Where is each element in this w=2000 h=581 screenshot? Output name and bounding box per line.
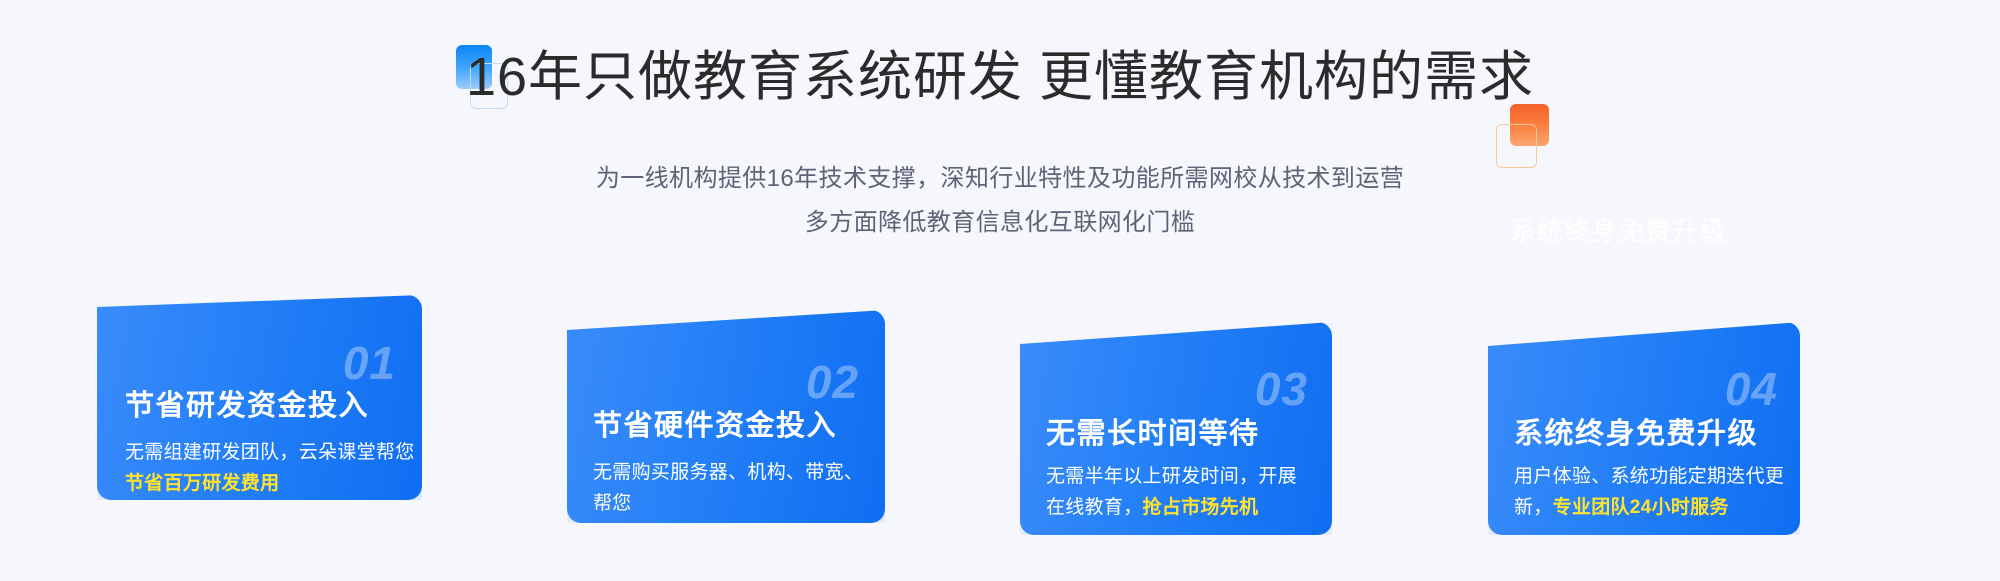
card-number: 04: [1725, 366, 1778, 412]
card-description: 用户体验、系统功能定期迭代更新，专业团队24小时服务: [1514, 462, 1792, 524]
card-description-highlight: 节省百万研发费用: [125, 473, 279, 494]
card-description: 无需组建研发团队，云朵课堂帮您节省百万研发费用: [125, 438, 415, 500]
card-description: 无需购买服务器、机构、带宽、帮您每年节省十几万: [593, 458, 878, 523]
card-title: 系统终身免费升级: [1514, 410, 1758, 452]
card-description: 无需半年以上研发时间，开展在线教育，抢占市场先机: [1046, 462, 1316, 524]
feature-card-content: 04 系统终身免费升级 用户体验、系统功能定期迭代更新，专业团队24小时服务: [1488, 322, 1800, 535]
card-title: 节省研发资金投入: [125, 382, 369, 424]
promo-banner: 16年只做教育系统研发 更懂教育机构的需求 为一线机构提供16年技术支撑，深知行…: [0, 0, 2000, 581]
feature-card[interactable]: 03 无需长时间等待 无需半年以上研发时间，开展在线教育，抢占市场先机: [1020, 322, 1332, 535]
feature-card[interactable]: 04 系统终身免费升级 用户体验、系统功能定期迭代更新，专业团队24小时服务: [1488, 322, 1800, 535]
feature-card-list: 01 节省研发资金投入 无需组建研发团队，云朵课堂帮您节省百万研发费用 02 节…: [0, 0, 2000, 581]
card-description-highlight: 抢占市场先机: [1143, 497, 1259, 518]
card-description-normal: 无需组建研发团队，云朵课堂帮您: [125, 442, 415, 463]
feature-card-content: 02 节省硬件资金投入 无需购买服务器、机构、带宽、帮您每年节省十几万: [567, 310, 885, 523]
card-title: 无需长时间等待: [1046, 410, 1260, 452]
card-description-highlight: 专业团队24小时服务: [1553, 497, 1729, 518]
feature-card[interactable]: 01 节省研发资金投入 无需组建研发团队，云朵课堂帮您节省百万研发费用: [97, 295, 422, 500]
feature-card-content: 03 无需长时间等待 无需半年以上研发时间，开展在线教育，抢占市场先机: [1020, 322, 1332, 535]
card-description-normal: 无需购买服务器、机构、带宽、帮您: [593, 462, 863, 514]
card-number: 03: [1255, 366, 1308, 412]
card-number: 02: [806, 359, 859, 405]
card-title: 节省硬件资金投入: [593, 402, 837, 444]
feature-card-content: 01 节省研发资金投入 无需组建研发团队，云朵课堂帮您节省百万研发费用: [97, 295, 422, 500]
card-number: 01: [343, 340, 396, 386]
feature-card[interactable]: 02 节省硬件资金投入 无需购买服务器、机构、带宽、帮您每年节省十几万: [567, 310, 885, 523]
